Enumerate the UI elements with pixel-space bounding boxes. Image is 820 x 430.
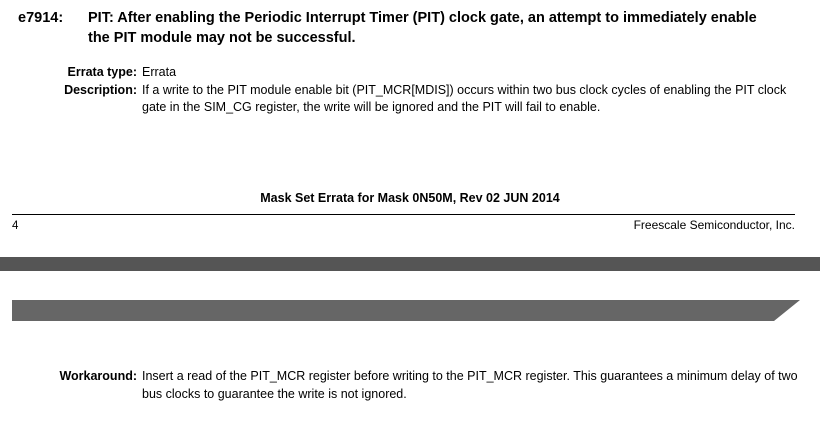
- footer-row: 4 Freescale Semiconductor, Inc.: [12, 217, 795, 234]
- footer-company-name: Freescale Semiconductor, Inc.: [634, 217, 795, 233]
- workaround-row: Workaround: Insert a read of the PIT_MCR…: [0, 368, 820, 403]
- workaround-block: Workaround: Insert a read of the PIT_MCR…: [0, 368, 820, 403]
- errata-description-value: If a write to the PIT module enable bit …: [137, 82, 820, 117]
- workaround-label: Workaround:: [0, 368, 137, 386]
- errata-type-value: Errata: [137, 64, 820, 82]
- errata-id: e7914:: [18, 8, 88, 28]
- footer-document-title: Mask Set Errata for Mask 0N50M, Rev 02 J…: [0, 190, 820, 207]
- errata-title: PIT: After enabling the Periodic Interru…: [88, 8, 800, 48]
- errata-type-label: Errata type:: [0, 64, 137, 82]
- page-separator-bar-top: [0, 257, 820, 271]
- footer-divider: [12, 214, 795, 215]
- errata-heading: e7914: PIT: After enabling the Periodic …: [18, 8, 800, 48]
- page-separator-bar-bottom: [12, 300, 800, 321]
- errata-document-page: e7914: PIT: After enabling the Periodic …: [0, 0, 820, 430]
- errata-description-row: Description: If a write to the PIT modul…: [0, 82, 820, 117]
- errata-type-row: Errata type: Errata: [0, 64, 820, 82]
- errata-description-label: Description:: [0, 82, 137, 100]
- errata-details-block: Errata type: Errata Description: If a wr…: [0, 64, 820, 117]
- footer-page-number: 4: [12, 218, 18, 234]
- workaround-value: Insert a read of the PIT_MCR register be…: [137, 368, 820, 403]
